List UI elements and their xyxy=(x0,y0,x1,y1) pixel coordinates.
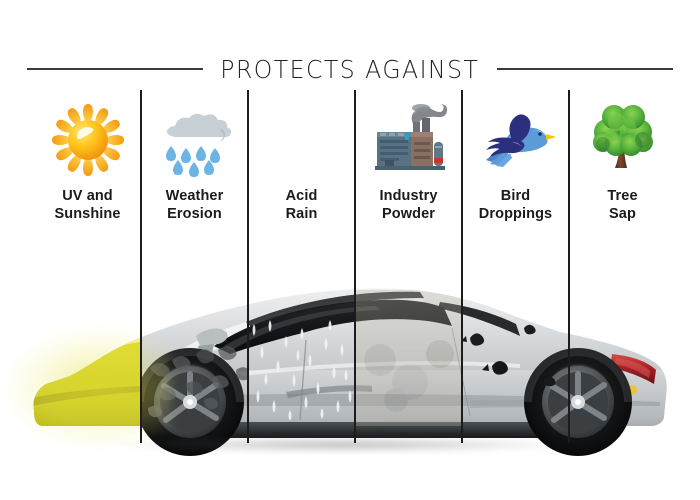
bird-beak xyxy=(546,134,556,140)
column-label-uv-sunshine: UV and Sunshine xyxy=(54,188,120,223)
infographic-canvas: PROTECTS AGAINST xyxy=(0,0,700,500)
cloud-shape xyxy=(166,114,230,141)
tree-icon xyxy=(581,98,665,182)
segment-industry-powder xyxy=(356,290,463,430)
label-line-1: Weather xyxy=(166,188,224,204)
car-illustration xyxy=(0,250,700,465)
column-bird-droppings[interactable]: Bird Droppings xyxy=(462,98,569,248)
column-label-weather-erosion: Weather Erosion xyxy=(166,188,224,223)
rain-cloud-icon xyxy=(153,98,237,182)
uv-glow xyxy=(6,328,171,448)
column-label-industry-powder: Industry Powder xyxy=(380,188,438,223)
acid-rain-icon xyxy=(260,98,344,182)
factory-ground xyxy=(375,166,445,170)
label-line-2: Sap xyxy=(609,206,636,222)
title-rule-left xyxy=(27,68,203,70)
column-label-acid-rain: Acid Rain xyxy=(286,188,318,223)
label-line-2: Powder xyxy=(382,206,435,222)
page-title: PROTECTS AGAINST xyxy=(220,57,479,82)
divider-1 xyxy=(140,90,142,443)
label-line-2: Sunshine xyxy=(54,206,120,222)
divider-4 xyxy=(461,90,463,443)
label-line-1: Industry xyxy=(380,188,438,204)
bird-icon xyxy=(474,98,558,182)
page-title-row: PROTECTS AGAINST xyxy=(0,52,700,86)
divider-3 xyxy=(354,90,356,443)
column-tree-sap[interactable]: Tree Sap xyxy=(569,98,676,248)
label-line-1: Tree xyxy=(607,188,637,204)
label-line-1: UV and xyxy=(62,188,113,204)
label-line-2: Erosion xyxy=(167,206,222,222)
column-acid-rain[interactable]: Acid Rain xyxy=(248,98,355,248)
column-industry-powder[interactable]: Industry Powder xyxy=(355,98,462,248)
label-line-2: Rain xyxy=(286,206,318,222)
divider-5 xyxy=(568,90,570,443)
label-line-2: Droppings xyxy=(479,206,552,222)
factory-icon xyxy=(367,98,451,182)
column-label-tree-sap: Tree Sap xyxy=(607,188,637,223)
title-rule-right xyxy=(497,68,673,70)
label-line-1: Acid xyxy=(286,188,318,204)
column-label-bird-droppings: Bird Droppings xyxy=(479,188,552,223)
raindrops xyxy=(166,146,220,177)
column-uv-sunshine[interactable]: UV and Sunshine xyxy=(34,98,141,248)
sun-icon xyxy=(46,98,130,182)
column-weather-erosion[interactable]: Weather Erosion xyxy=(141,98,248,248)
label-line-1: Bird xyxy=(501,188,530,204)
divider-2 xyxy=(247,90,249,443)
